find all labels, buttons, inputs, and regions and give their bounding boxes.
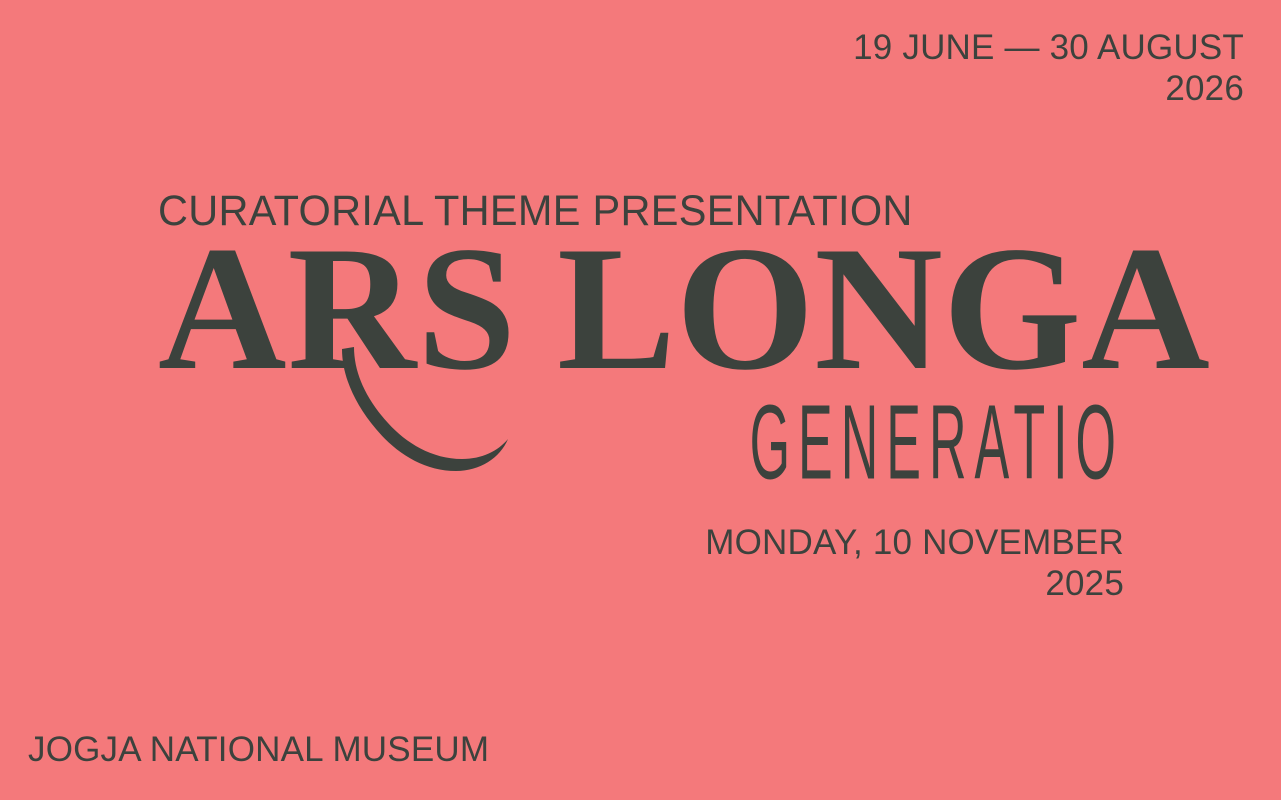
headline-block: CURATORIAL THEME PRESENTATION ARSLONGA G… [158,190,1124,487]
poster-canvas: 19 JUNE — 30 AUGUST 2026 CURATORIAL THEM… [0,0,1281,800]
title-serif: ARSLONGA [158,239,1124,378]
title-subtitle-generatio: GENERATIO [641,399,1124,488]
exhibition-run-dates: 19 JUNE — 30 AUGUST 2026 [853,28,1244,109]
event-date-line-2: 2025 [158,563,1124,604]
title-word-ars: ARS [158,209,517,407]
run-dates-line-1: 19 JUNE — 30 AUGUST [853,28,1244,69]
event-date: MONDAY, 10 NOVEMBER 2025 [158,522,1124,605]
venue-name: JOGJA NATIONAL MUSEUM [28,732,489,767]
title-word-longa: LONGA [557,209,1210,407]
event-date-line-1: MONDAY, 10 NOVEMBER [158,522,1124,563]
run-dates-line-2: 2026 [853,69,1244,110]
